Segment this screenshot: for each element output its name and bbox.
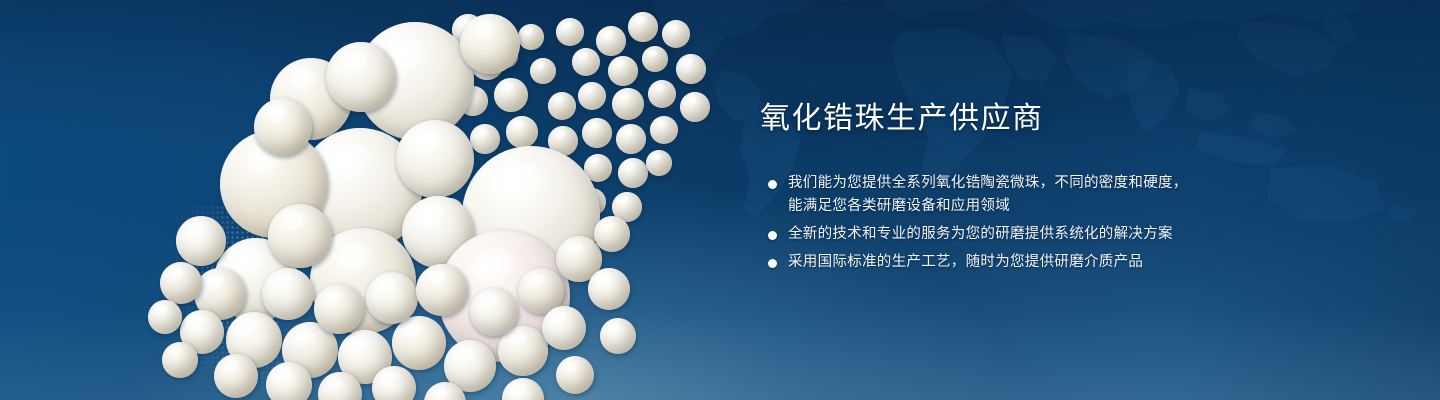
feature-bullet-list: 我们能为您提供全系列氧化锆陶瓷微珠，不同的密度和硬度， 能满足您各类研磨设备和应…: [760, 172, 1400, 274]
list-item: 采用国际标准的生产工艺，随时为您提供研磨介质产品: [760, 251, 1400, 274]
bullet-dot-icon: [768, 180, 777, 189]
bullet-text-line-1: 我们能为您提供全系列氧化锆陶瓷微珠，不同的密度和硬度，: [788, 175, 1188, 191]
bullet-text-line-2: 能满足您各类研磨设备和应用领域: [788, 195, 1400, 218]
bullet-text-line-1: 采用国际标准的生产工艺，随时为您提供研磨介质产品: [788, 254, 1143, 270]
list-item: 我们能为您提供全系列氧化锆陶瓷微珠，不同的密度和硬度， 能满足您各类研磨设备和应…: [760, 172, 1400, 218]
list-item: 全新的技术和专业的服务为您的研磨提供系统化的解决方案: [760, 223, 1400, 246]
promo-banner: 氧化锆珠生产供应商 我们能为您提供全系列氧化锆陶瓷微珠，不同的密度和硬度， 能满…: [0, 0, 1440, 400]
bullet-text-line-1: 全新的技术和专业的服务为您的研磨提供系统化的解决方案: [788, 226, 1173, 242]
page-title: 氧化锆珠生产供应商: [760, 100, 1400, 138]
bullet-dot-icon: [768, 259, 777, 268]
bullet-dot-icon: [768, 231, 777, 240]
banner-content: 氧化锆珠生产供应商 我们能为您提供全系列氧化锆陶瓷微珠，不同的密度和硬度， 能满…: [760, 100, 1400, 279]
